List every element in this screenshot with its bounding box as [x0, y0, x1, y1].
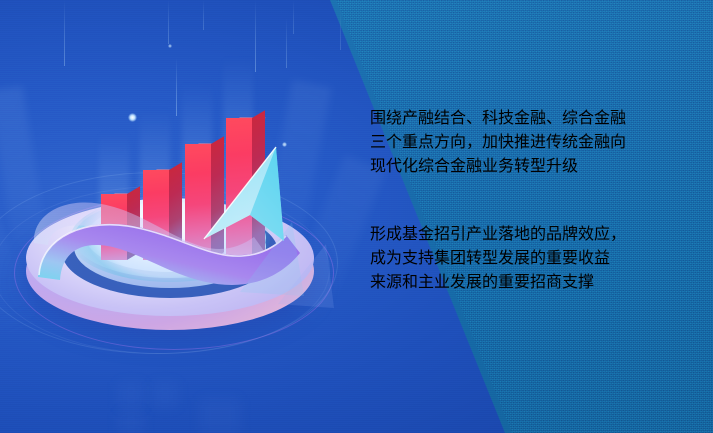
paragraph-1-line-1: 围绕产融结合、科技金融、综合金融	[370, 104, 680, 128]
light-streak	[168, 0, 169, 44]
background-blotch	[118, 382, 144, 408]
decorative-shards	[230, 200, 350, 320]
paragraph-2-line-2: 成为支持集团转型发展的重要收益	[370, 244, 680, 268]
light-streak	[176, 58, 177, 116]
paragraph-1-line-2: 三个重点方向，加快推进传统金融向	[370, 128, 680, 152]
light-streak	[64, 0, 65, 66]
text-column: 围绕产融结合、科技金融、综合金融 三个重点方向，加快推进传统金融向 现代化综合金…	[370, 104, 680, 308]
paragraph-2-line-3: 来源和主业发展的重要招商支撑	[370, 268, 680, 292]
light-streak	[340, 10, 341, 50]
light-streak	[286, 18, 287, 68]
light-streak	[255, 0, 256, 72]
paragraph-2-line-1: 形成基金招引产业落地的品牌效应，	[370, 220, 680, 244]
glow-particle	[168, 44, 172, 48]
light-streak	[203, 0, 204, 30]
background-blotch	[118, 412, 144, 433]
light-streak	[293, 0, 294, 34]
paragraph-1-line-3: 现代化综合金融业务转型升级	[370, 152, 680, 176]
background-blotch	[152, 382, 178, 408]
promo-banner: 围绕产融结合、科技金融、综合金融 三个重点方向，加快推进传统金融向 现代化综合金…	[0, 0, 713, 433]
paragraph-spacer	[370, 192, 680, 220]
glow-particle	[128, 113, 137, 122]
background-blotch	[200, 398, 240, 433]
